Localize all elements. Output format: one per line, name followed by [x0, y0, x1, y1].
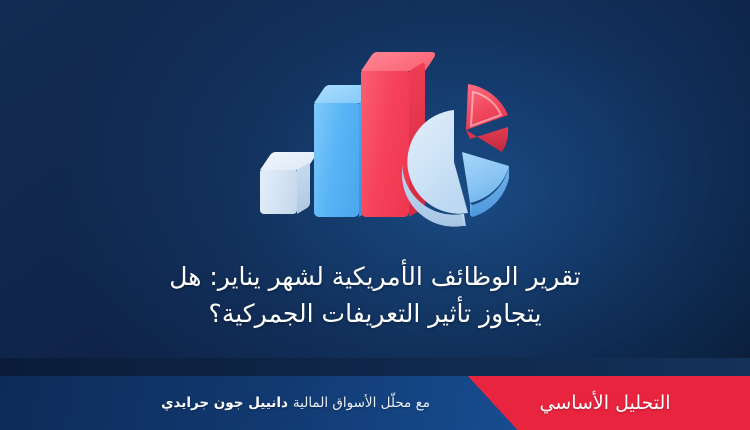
- footer-category-area: التحليل الأساسي: [460, 376, 750, 430]
- pie-blue-depth-edge: [470, 203, 472, 217]
- pie-red-depth: [466, 127, 508, 152]
- category-label: التحليل الأساسي: [539, 392, 670, 414]
- red-bar-top-face: [361, 52, 438, 71]
- footer-byline-area: مع محلّل الأسواق الماليةدانييل جون جرايد…: [0, 376, 430, 430]
- footer-top-strip: [0, 358, 750, 376]
- pie-chart-svg: [396, 90, 524, 230]
- pie-main-depth-edge: [462, 214, 466, 226]
- chart-illustration: [248, 52, 524, 238]
- pie-main-slice: [407, 110, 468, 214]
- byline: مع محلّل الأسواق الماليةدانييل جون جرايد…: [161, 395, 430, 411]
- thumbnail-canvas: تقرير الوظائف الأمريكية لشهر يناير: هل ي…: [0, 0, 750, 430]
- headline: تقرير الوظائف الأمريكية لشهر يناير: هل ي…: [0, 258, 750, 332]
- pie-chart: [396, 90, 524, 230]
- cube-side-face: [297, 162, 310, 214]
- headline-line-1: تقرير الوظائف الأمريكية لشهر يناير: هل: [0, 258, 750, 295]
- blue-bar-front-face: [314, 103, 359, 217]
- host-name: دانييل جون جرايدي: [161, 395, 288, 411]
- pie-blue-slice: [462, 152, 509, 203]
- small-cube-bar: [260, 152, 306, 214]
- footer-bar: مع محلّل الأسواق الماليةدانييل جون جرايد…: [0, 376, 750, 430]
- cube-front-face: [260, 170, 297, 214]
- headline-line-2: يتجاوز تأثير التعريفات الجمركية؟: [0, 295, 750, 332]
- byline-prefix: مع محلّل الأسواق المالية: [293, 395, 430, 411]
